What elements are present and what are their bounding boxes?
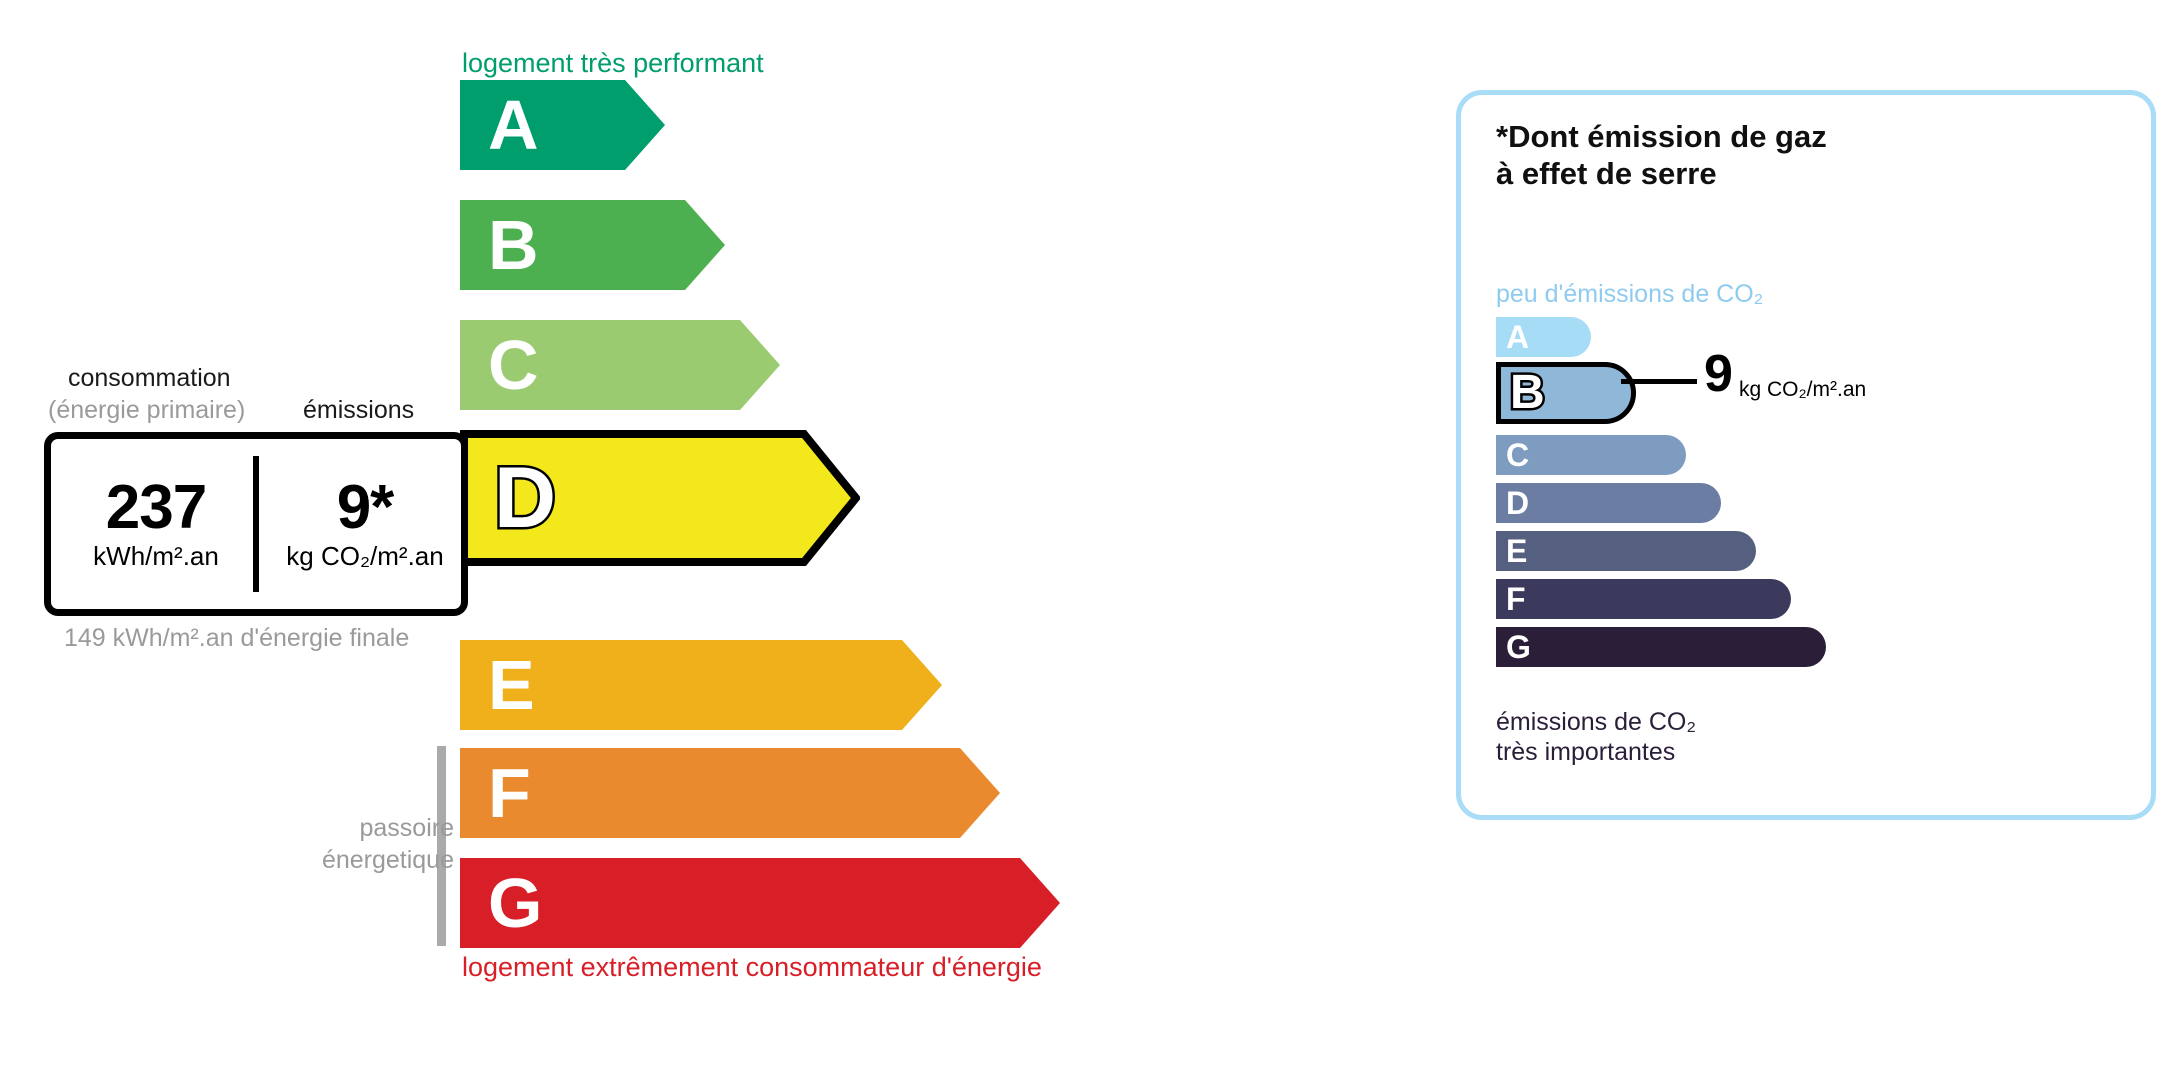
co2-grade-letter-b: B <box>1510 369 1545 417</box>
energy-grade-row-c: C <box>460 320 780 410</box>
co2-leader-line <box>1621 379 1697 384</box>
energy-arrow-shape-e <box>460 640 942 730</box>
emissions-unit: kg CO₂/m².an <box>265 541 465 572</box>
co2-top-label: peu d'émissions de CO₂ <box>1496 280 1763 309</box>
emissions-value-cell: 9* kg CO₂/m².an <box>261 476 469 572</box>
final-energy-label: 149 kWh/m².an d'énergie finale <box>64 622 409 654</box>
energy-arrow-shape-g <box>460 858 1060 948</box>
consumption-unit: kWh/m².an <box>55 541 257 572</box>
co2-bar-f <box>1496 579 1791 619</box>
co2-grade-row-a: A <box>1496 317 1591 357</box>
co2-bar-d <box>1496 483 1721 523</box>
dpe-energy-diagram: logement très performant ABCDEFG logemen… <box>0 0 1420 1079</box>
co2-panel: *Dont émission de gaz à effet de serre p… <box>1456 90 2156 820</box>
co2-grade-row-b: B <box>1496 362 1636 424</box>
value-box: 237 kWh/m².an 9* kg CO₂/m².an <box>44 432 468 616</box>
value-box-divider <box>253 456 259 592</box>
energy-arrow-shape-d <box>460 430 860 566</box>
energy-arrow-shape-f <box>460 748 1000 838</box>
energy-grade-row-e: E <box>460 640 942 730</box>
consumption-value: 237 <box>55 476 257 539</box>
co2-bar-e <box>1496 531 1756 571</box>
co2-grade-letter-g: G <box>1506 631 1531 663</box>
co2-grade-letter-a: A <box>1506 321 1529 353</box>
consumption-value-cell: 237 kWh/m².an <box>51 476 261 572</box>
co2-bar-g <box>1496 627 1826 667</box>
primary-energy-label: (énergie primaire) <box>48 396 245 425</box>
energy-grade-row-g: G <box>460 858 1060 948</box>
energy-arrow-shape-a <box>460 80 665 170</box>
energy-grade-row-b: B <box>460 200 725 290</box>
co2-grade-letter-e: E <box>1506 535 1527 567</box>
energy-arrow-shape-c <box>460 320 780 410</box>
co2-bottom-label: émissions de CO₂ très importantes <box>1496 707 1696 767</box>
co2-grade-row-d: D <box>1496 483 1721 523</box>
co2-grade-row-f: F <box>1496 579 1791 619</box>
energy-scale-bottom-label: logement extrêmement consommateur d'éner… <box>462 952 1042 983</box>
energy-grade-row-d: D <box>460 430 860 566</box>
co2-grade-row-c: C <box>1496 435 1686 475</box>
energy-grade-row-f: F <box>460 748 1000 838</box>
co2-grade-letter-c: C <box>1506 439 1529 471</box>
co2-grade-letter-d: D <box>1506 487 1529 519</box>
energy-grade-row-a: A <box>460 80 665 170</box>
co2-grade-letter-f: F <box>1506 583 1526 615</box>
co2-grade-row-e: E <box>1496 531 1756 571</box>
co2-value: 9 <box>1704 348 1733 400</box>
consumption-label: consommation <box>68 364 231 393</box>
emissions-label: émissions <box>303 396 414 425</box>
co2-grade-row-g: G <box>1496 627 1826 667</box>
passoire-energetique-label: passoire énergetique <box>284 812 454 876</box>
co2-value-unit: kg CO₂/m².an <box>1739 378 1866 402</box>
co2-panel-title: *Dont émission de gaz à effet de serre <box>1496 119 1827 192</box>
energy-arrow-shape-b <box>460 200 725 290</box>
emissions-value: 9* <box>265 476 465 539</box>
